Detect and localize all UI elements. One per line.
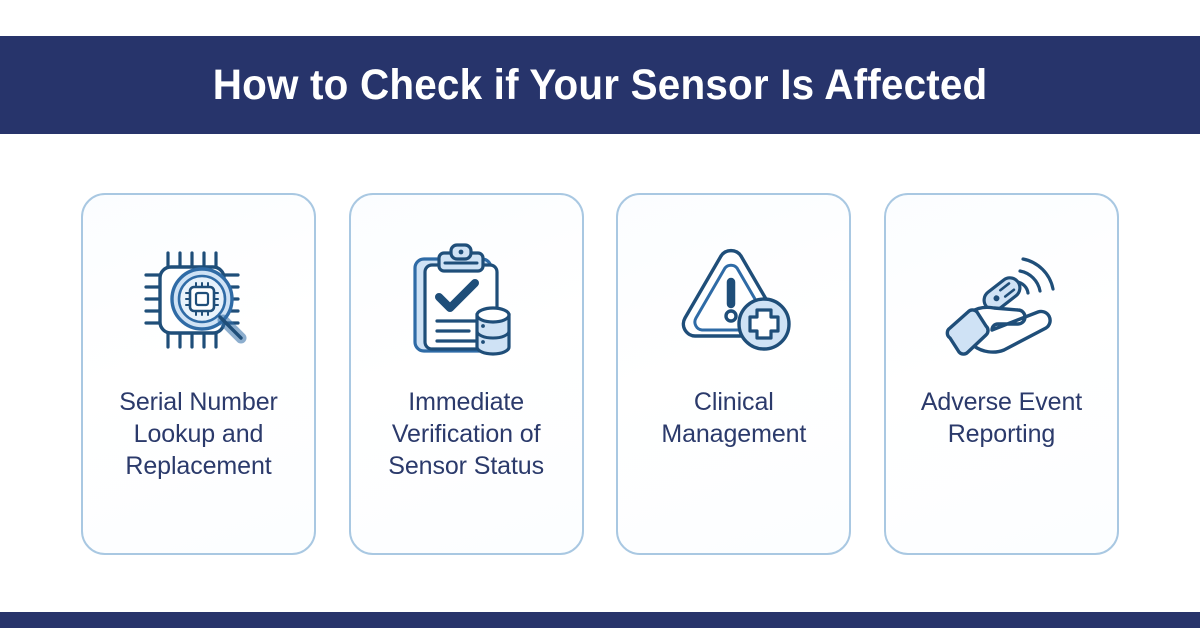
- microchip-magnifier-icon: [134, 239, 264, 364]
- card-label: Immediate Verification of Sensor Status: [359, 386, 574, 482]
- cards-row: Serial Number Lookup and Replacement: [81, 193, 1119, 555]
- footer-band: [0, 612, 1200, 628]
- card-adverse-event-reporting[interactable]: Adverse Event Reporting: [884, 193, 1119, 555]
- card-label: Serial Number Lookup and Replacement: [91, 386, 306, 482]
- hand-wireless-sensor-icon: [936, 239, 1066, 364]
- infographic-page: How to Check if Your Sensor Is Affected: [0, 0, 1200, 628]
- card-serial-number-lookup[interactable]: Serial Number Lookup and Replacement: [81, 193, 316, 555]
- page-title: How to Check if Your Sensor Is Affected: [213, 64, 988, 107]
- card-label: Clinical Management: [626, 386, 841, 450]
- card-label: Adverse Event Reporting: [894, 386, 1109, 450]
- header-band: How to Check if Your Sensor Is Affected: [0, 36, 1200, 134]
- clipboard-check-database-icon: [401, 239, 531, 364]
- card-immediate-verification[interactable]: Immediate Verification of Sensor Status: [349, 193, 584, 555]
- card-clinical-management[interactable]: Clinical Management: [616, 193, 851, 555]
- warning-triangle-medical-cross-icon: [669, 239, 799, 364]
